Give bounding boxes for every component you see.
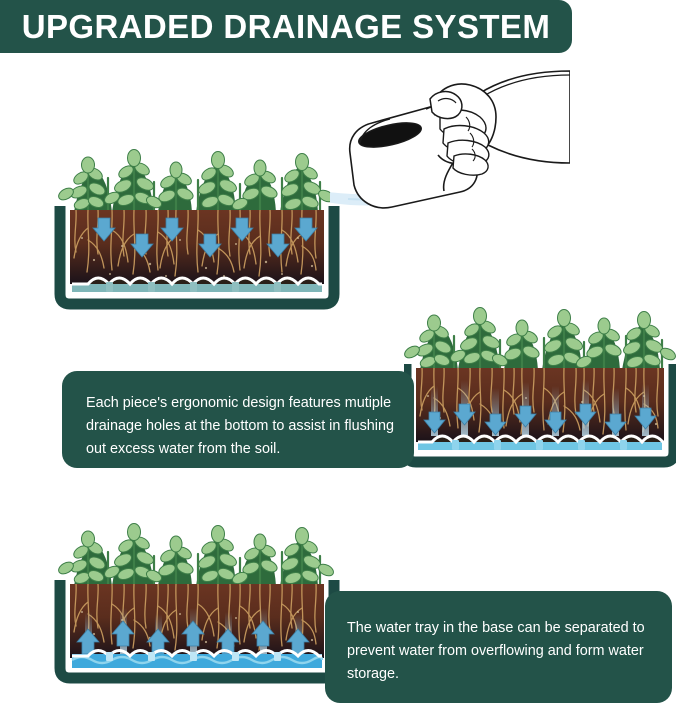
caption-drainage-holes: Each piece's ergonomic design features m… (62, 371, 414, 468)
foliage (57, 524, 336, 587)
caption-text: Each piece's ergonomic design features m… (86, 392, 406, 461)
infographic-canvas: UPGRADED DRAINAGE SYSTEM (0, 0, 679, 691)
planter-cross-section-flushing (404, 300, 676, 472)
caption-text: The water tray in the base can be separa… (347, 617, 662, 686)
soil-body (416, 368, 664, 442)
planter-cross-section-draining (54, 142, 340, 314)
planter-cross-section-wicking (54, 516, 340, 688)
foliage (404, 308, 676, 371)
caption-water-tray: The water tray in the base can be separa… (325, 591, 672, 703)
page-title: UPGRADED DRAINAGE SYSTEM (22, 10, 550, 43)
thumb (430, 92, 462, 119)
header-banner: UPGRADED DRAINAGE SYSTEM (0, 0, 572, 53)
foliage (57, 150, 336, 213)
hand-pouring-watering-can (330, 57, 570, 242)
